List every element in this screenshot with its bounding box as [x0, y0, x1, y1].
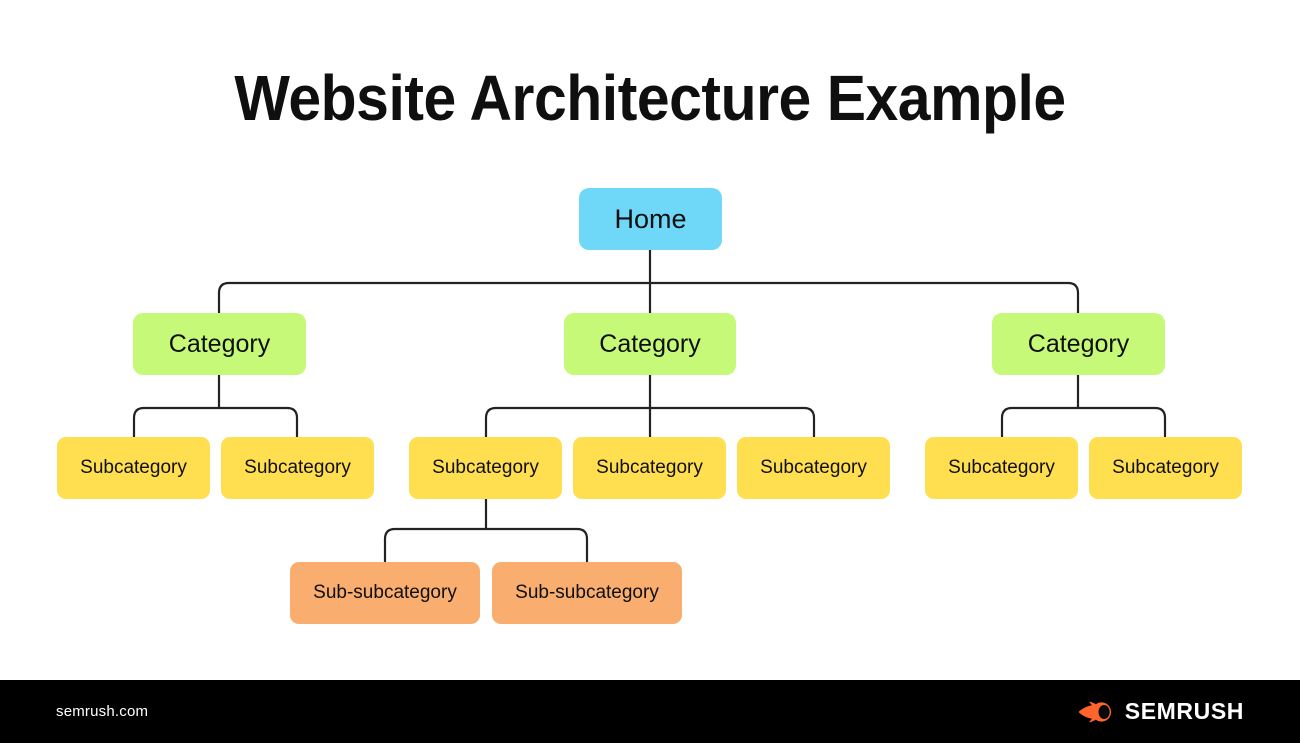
- connector-right-subcategory-bus: [1002, 408, 1165, 437]
- connector-subsub-bus: [385, 529, 587, 562]
- page-title: Website Architecture Example: [52, 58, 1248, 138]
- footer-bar: semrush.com SEMRUSH: [0, 680, 1300, 743]
- node-category-2[interactable]: Category: [564, 313, 736, 375]
- node-subsubcategory-2[interactable]: Sub-subcategory: [492, 562, 682, 624]
- node-subcategory-right-2[interactable]: Subcategory: [1089, 437, 1242, 499]
- connector-category-bus: [219, 283, 1078, 313]
- node-home[interactable]: Home: [579, 188, 722, 250]
- node-subcategory-middle-3[interactable]: Subcategory: [737, 437, 890, 499]
- connector-middle-subcategory-bus: [486, 408, 814, 437]
- diagram-canvas: Website Architecture Example Home Catego…: [0, 0, 1300, 743]
- semrush-wordmark: SEMRUSH: [1125, 698, 1244, 725]
- semrush-logo: SEMRUSH: [1078, 698, 1244, 725]
- node-category-3[interactable]: Category: [992, 313, 1165, 375]
- node-subcategory-middle-1[interactable]: Subcategory: [409, 437, 562, 499]
- semrush-comet-icon: [1078, 699, 1114, 725]
- footer-url: semrush.com: [56, 703, 148, 720]
- node-subcategory-left-1[interactable]: Subcategory: [57, 437, 210, 499]
- node-subcategory-right-1[interactable]: Subcategory: [925, 437, 1078, 499]
- node-subcategory-left-2[interactable]: Subcategory: [221, 437, 374, 499]
- node-subsubcategory-1[interactable]: Sub-subcategory: [290, 562, 480, 624]
- node-subcategory-middle-2[interactable]: Subcategory: [573, 437, 726, 499]
- connector-left-subcategory-bus: [134, 408, 297, 437]
- node-category-1[interactable]: Category: [133, 313, 306, 375]
